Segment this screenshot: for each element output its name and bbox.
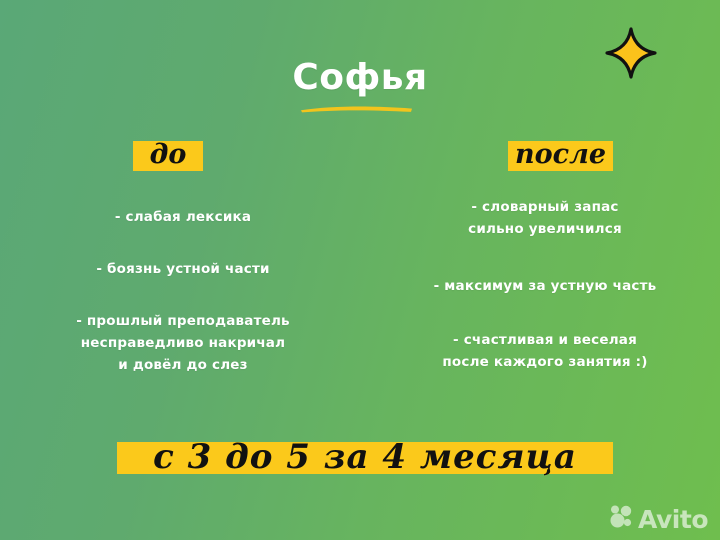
result-banner: с 3 до 5 за 4 месяца: [117, 442, 613, 474]
list-item: - слабая лексика: [38, 206, 328, 228]
watermark: Avito: [609, 505, 708, 534]
watermark-label: Avito: [638, 507, 708, 532]
result-banner-label: с 3 до 5 за 4 месяца: [153, 440, 577, 474]
list-item: - боязнь устной части: [38, 258, 328, 280]
avito-logo-icon: [609, 505, 635, 534]
badge-after-label: после: [515, 141, 606, 169]
badge-after: после: [508, 141, 613, 171]
list-item: - максимум за устную часть: [400, 275, 690, 297]
column-after: - словарный запас сильно увеличился - ма…: [400, 196, 690, 373]
column-before: - слабая лексика - боязнь устной части -…: [38, 196, 328, 376]
list-item: - прошлый преподаватель несправедливо на…: [38, 310, 328, 376]
badge-before: до: [133, 141, 203, 171]
list-item: - словарный запас сильно увеличился: [400, 196, 690, 240]
slide-canvas: Софья до после - слабая лексика - боязнь…: [0, 0, 720, 540]
brush-underline-icon: [300, 100, 413, 109]
page-title: Софья: [0, 58, 720, 98]
badge-before-label: до: [150, 141, 187, 169]
list-item: - счастливая и веселая после каждого зан…: [400, 329, 690, 373]
title-block: Софья: [0, 58, 720, 98]
